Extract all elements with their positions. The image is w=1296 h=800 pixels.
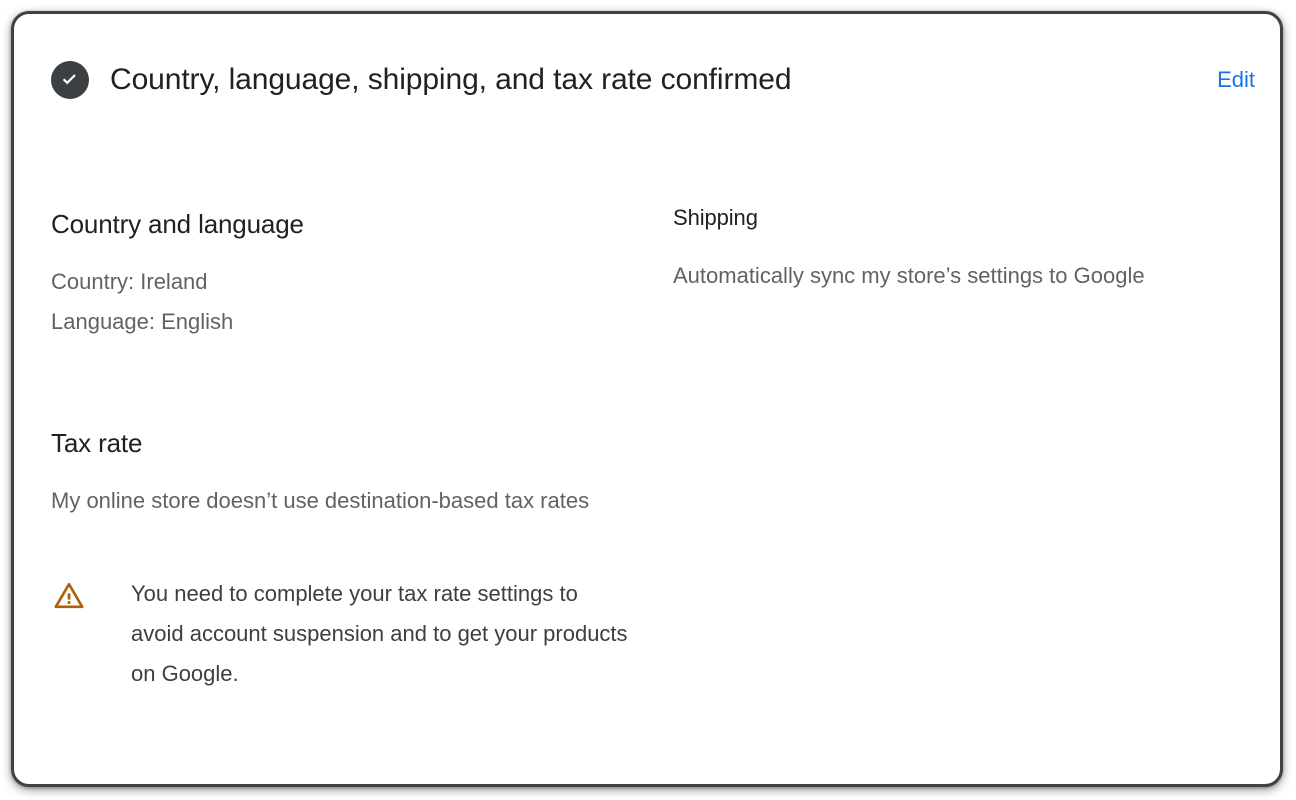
language-value: Language: English [51,302,631,342]
card-body: Country and language Country: Ireland La… [14,146,1280,784]
country-language-section: Country and language Country: Ireland La… [51,208,631,342]
tax-rate-section: Tax rate My online store doesn’t use des… [51,427,631,694]
tax-rate-heading: Tax rate [51,427,631,459]
card-header: Country, language, shipping, and tax rat… [14,14,1280,146]
check-circle-icon [51,61,89,99]
shipping-heading: Shipping [673,204,1233,232]
warning-message: You need to complete your tax rate setti… [131,574,631,694]
country-language-heading: Country and language [51,208,631,240]
page-title: Country, language, shipping, and tax rat… [110,61,1215,99]
shipping-section: Shipping Automatically sync my store’s s… [673,204,1233,296]
shipping-description: Automatically sync my store’s settings t… [673,255,1213,296]
tax-rate-warning: You need to complete your tax rate setti… [51,574,631,694]
country-value: Country: Ireland [51,262,631,302]
warning-triangle-icon [54,582,84,609]
right-column: Shipping Automatically sync my store’s s… [673,204,1233,296]
edit-link[interactable]: Edit [1215,62,1257,98]
tax-rate-description: My online store doesn’t use destination-… [51,481,591,521]
left-column: Country and language Country: Ireland La… [51,208,631,694]
screen: Country, language, shipping, and tax rat… [0,0,1296,800]
confirmation-card: Country, language, shipping, and tax rat… [11,11,1283,787]
